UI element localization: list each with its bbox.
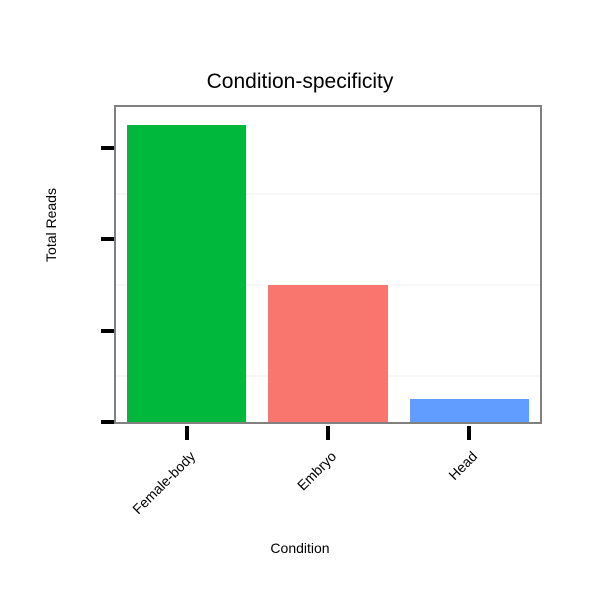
x-tick-mark [467,426,471,440]
bar-embryo[interactable] [268,285,387,422]
x-tick-label: Embryo [187,448,340,601]
x-tick-mark [185,426,189,440]
y-tick-mark [101,329,114,333]
plot-panel [114,105,542,424]
bars-layer [116,107,540,422]
x-tick-label: Female-body [45,448,198,601]
x-tick-label: Head [328,448,481,601]
y-tick-mark [101,146,114,150]
bar-female-body[interactable] [127,125,246,422]
x-tick-mark [326,426,330,440]
bar-head[interactable] [410,399,529,422]
x-axis: Condition Female-bodyEmbryoHead [0,424,600,600]
y-axis-title: Total Reads [43,165,59,285]
bar-chart: Condition-specificity Total Reads 0246 C… [0,0,600,600]
y-tick-mark [101,237,114,241]
